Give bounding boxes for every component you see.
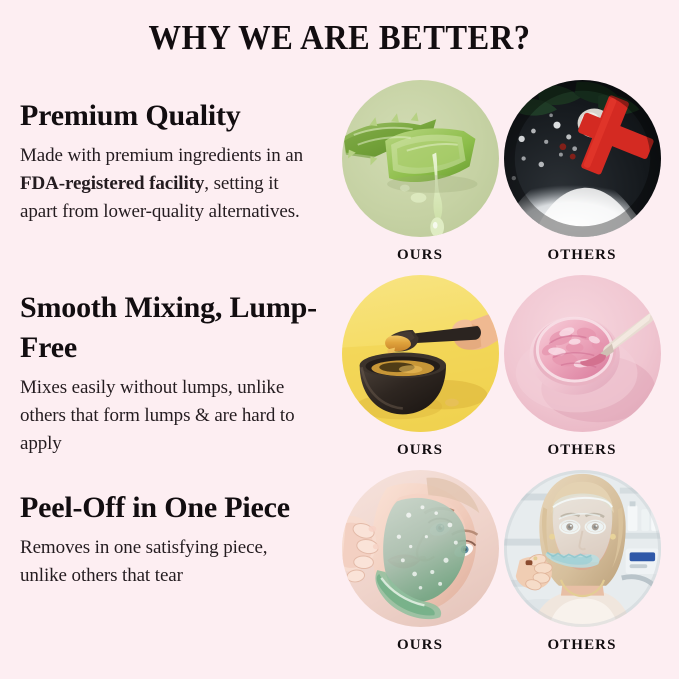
smooth-gel-pour-photo <box>342 275 499 432</box>
comparison-grid: OURS <box>336 80 679 665</box>
feature-heading: Peel-Off in One Piece <box>20 488 320 528</box>
feature-block-smooth-mixing: Smooth Mixing, Lump-Free Mixes easily wi… <box>20 288 320 488</box>
comparison-label-ours: OURS <box>340 637 500 654</box>
feature-list: Premium Quality Made with premium ingred… <box>20 96 320 590</box>
lumpy-pink-mask-photo <box>504 275 661 432</box>
comparison-row: OURS <box>336 470 679 665</box>
comparison-label-others: OTHERS <box>502 247 662 264</box>
comparison-cell-others: OTHERS <box>502 275 662 459</box>
feature-block-peel-off: Peel-Off in One Piece Removes in one sat… <box>20 488 320 590</box>
torn-sheet-mask-photo <box>504 470 661 627</box>
feature-heading: Premium Quality <box>20 96 320 136</box>
feature-body: Mixes easily without lumps, unlike other… <box>20 374 316 458</box>
comparison-label-others: OTHERS <box>502 442 662 459</box>
comparison-cell-ours: OURS <box>340 80 500 264</box>
comparison-row: OURS <box>336 275 679 470</box>
feature-body: Made with premium ingredients in an FDA-… <box>20 142 316 226</box>
comparison-label-others: OTHERS <box>502 637 662 654</box>
comparison-cell-ours: OURS <box>340 275 500 459</box>
comparison-row: OURS <box>336 80 679 275</box>
comparison-label-ours: OURS <box>340 247 500 264</box>
feature-heading: Smooth Mixing, Lump-Free <box>20 288 320 368</box>
comparison-cell-others: OTHERS <box>502 470 662 654</box>
comparison-cell-others: OTHERS <box>502 80 662 264</box>
aloe-vera-slice-photo <box>342 80 499 237</box>
feature-body: Removes in one satisfying piece, unlike … <box>20 534 316 590</box>
page-title: WHY WE ARE BETTER? <box>24 18 655 58</box>
feature-block-premium-quality: Premium Quality Made with premium ingred… <box>20 96 320 288</box>
peel-off-one-piece-photo <box>342 470 499 627</box>
white-powder-rejected-photo <box>504 80 661 237</box>
comparison-cell-ours: OURS <box>340 470 500 654</box>
comparison-label-ours: OURS <box>340 442 500 459</box>
